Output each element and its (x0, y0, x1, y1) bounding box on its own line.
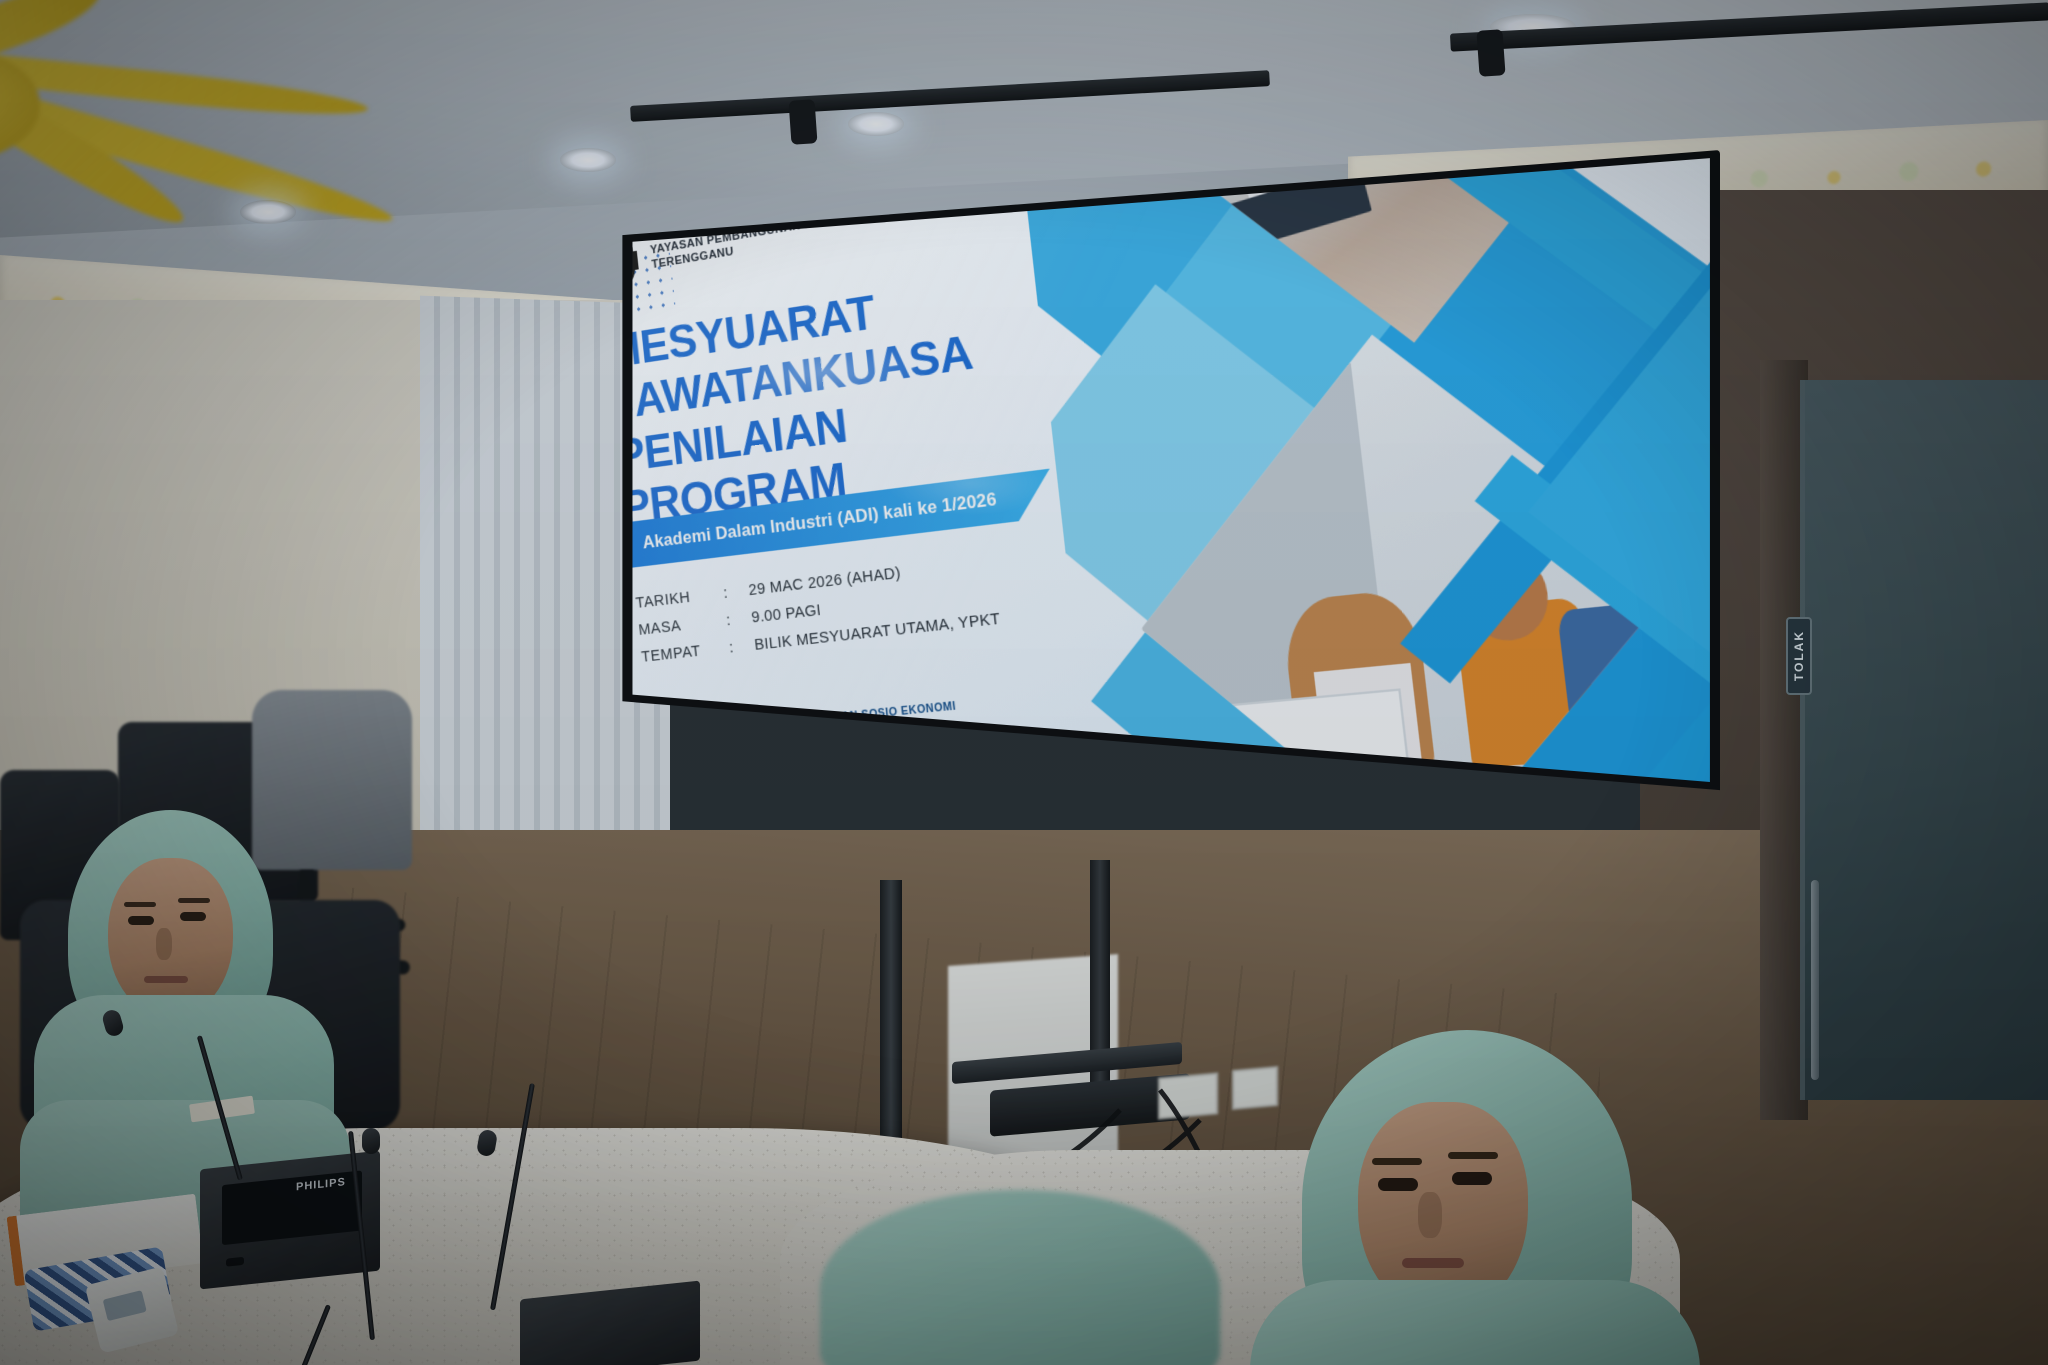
eye-left (128, 916, 154, 925)
mouth (144, 976, 188, 983)
wall-display: YAYASAN PEMBANGUNAN KELUARGA TERENGGANU … (600, 150, 1720, 890)
detail-label: MASA (638, 612, 728, 639)
detail-value: 9.00 PAGI (751, 601, 822, 627)
slide-details: TARIKH : 29 MAC 2026 (AHAD) MASA : 9.00 … (635, 553, 1002, 675)
track-light-head (1476, 29, 1505, 77)
brow-right (1448, 1152, 1498, 1159)
meeting-room-photo: TOLAK (0, 0, 2048, 1365)
door-handle[interactable] (1811, 880, 1819, 1080)
eye-right (180, 912, 206, 921)
slide-bottom-band (628, 832, 1411, 890)
ceiling-fan-icon (0, 0, 440, 240)
brow-left (124, 902, 156, 907)
glass-door[interactable] (1800, 380, 2048, 1100)
downlight-icon (240, 200, 296, 224)
nose (1418, 1192, 1442, 1238)
track-light-head (788, 99, 817, 145)
hijab-drape (1250, 1280, 1700, 1365)
brow-left (1372, 1158, 1422, 1165)
participant-foreground (790, 1190, 1250, 1365)
door-sign-tolak: TOLAK (1786, 617, 1812, 695)
eye-right (1452, 1172, 1492, 1185)
door-sign-label: TOLAK (1792, 630, 1806, 681)
detail-sep: : (725, 609, 752, 630)
nose (156, 928, 172, 960)
eye-left (1378, 1178, 1418, 1191)
remote-screen (103, 1290, 147, 1321)
hijab (820, 1190, 1220, 1365)
slide-header: YAYASAN PEMBANGUNAN KELUARGA TERENGGANU (600, 192, 876, 294)
presentation-slide: YAYASAN PEMBANGUNAN KELUARGA TERENGGANU … (600, 150, 1720, 890)
org-name: YAYASAN PEMBANGUNAN KELUARGA TERENGGANU (649, 206, 874, 273)
brow-right (178, 898, 210, 903)
downlight-icon (848, 112, 904, 136)
detail-sep: : (722, 581, 749, 602)
detail-sep: : (728, 636, 755, 657)
mouth (1402, 1258, 1464, 1268)
detail-label: TARIKH (635, 584, 725, 612)
microphone-head-3 (362, 1128, 380, 1154)
detail-label: TEMPAT (641, 639, 731, 666)
participant-right (1230, 1030, 1700, 1365)
tv-screen: YAYASAN PEMBANGUNAN KELUARGA TERENGGANU … (600, 150, 1720, 890)
